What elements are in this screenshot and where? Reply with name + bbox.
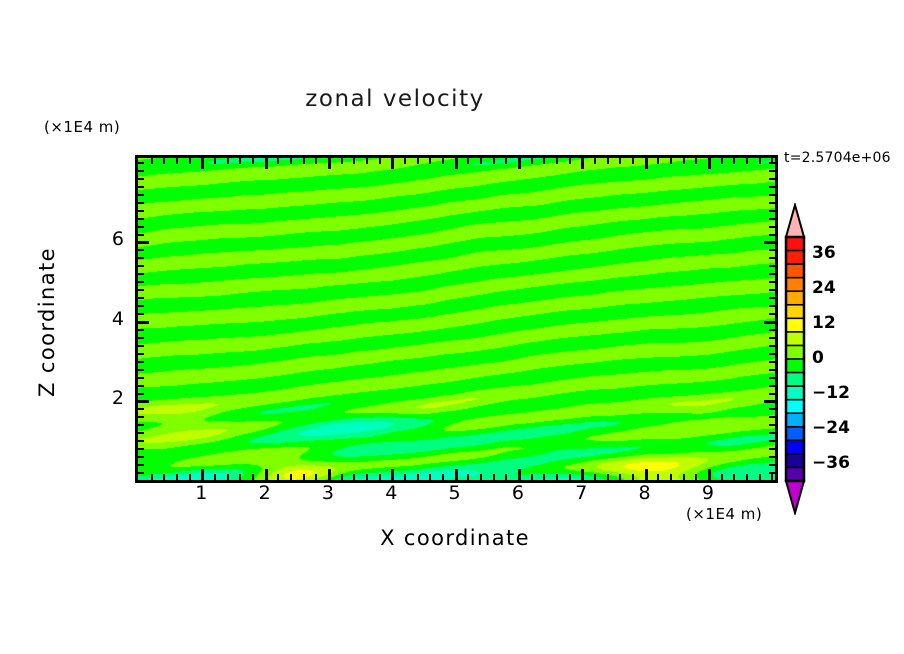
tick-mark bbox=[290, 474, 292, 480]
tick-mark bbox=[670, 474, 672, 480]
tick-mark bbox=[769, 194, 775, 196]
tick-mark bbox=[315, 474, 317, 480]
tick-mark bbox=[163, 158, 165, 164]
tick-mark bbox=[769, 416, 775, 418]
tick-mark bbox=[556, 158, 558, 164]
tick-mark bbox=[769, 424, 775, 426]
tick-mark bbox=[619, 474, 621, 480]
tick-mark bbox=[138, 226, 144, 228]
tick-mark bbox=[138, 369, 144, 371]
tick-mark bbox=[138, 400, 149, 403]
tick-mark bbox=[303, 474, 305, 480]
tick-mark bbox=[138, 361, 144, 363]
tick-mark bbox=[581, 158, 584, 169]
tick-mark bbox=[518, 469, 521, 480]
tick-mark bbox=[764, 321, 775, 324]
colorbar-tick-label: 24 bbox=[812, 278, 836, 298]
tick-mark bbox=[632, 158, 634, 164]
tick-mark bbox=[214, 158, 216, 164]
colorbar-svg bbox=[780, 203, 810, 515]
tick-mark bbox=[764, 400, 775, 403]
tick-mark bbox=[176, 474, 178, 480]
tick-mark bbox=[138, 448, 144, 450]
colorbar-band bbox=[786, 413, 804, 427]
tick-mark bbox=[138, 289, 144, 291]
contour-plot-area bbox=[135, 155, 778, 483]
tick-mark bbox=[138, 432, 144, 434]
tick-mark bbox=[429, 158, 431, 164]
tick-mark bbox=[138, 472, 144, 474]
tick-mark bbox=[543, 158, 545, 164]
tick-mark bbox=[769, 186, 775, 188]
colorbar-band bbox=[786, 373, 804, 387]
colorbar-band bbox=[786, 467, 804, 481]
tick-mark bbox=[769, 337, 775, 339]
tick-mark bbox=[252, 158, 254, 164]
tick-mark bbox=[151, 158, 153, 164]
tick-mark bbox=[493, 474, 495, 480]
tick-mark bbox=[138, 337, 144, 339]
x-axis-unit-label: (×1E4 m) bbox=[686, 505, 762, 523]
tick-mark bbox=[769, 440, 775, 442]
tick-mark bbox=[607, 474, 609, 480]
colorbar-band bbox=[786, 318, 804, 332]
contour-field-canvas bbox=[138, 158, 775, 480]
tick-mark bbox=[138, 456, 144, 458]
tick-mark bbox=[417, 474, 419, 480]
tick-mark bbox=[138, 257, 144, 259]
colorbar-over-cap bbox=[786, 205, 804, 237]
tick-mark bbox=[138, 210, 144, 212]
tick-mark bbox=[265, 158, 268, 169]
tick-mark bbox=[138, 234, 144, 236]
tick-mark bbox=[201, 469, 204, 480]
tick-mark bbox=[138, 194, 144, 196]
colorbar-tick-label: −36 bbox=[812, 453, 850, 473]
tick-mark bbox=[556, 474, 558, 480]
tick-mark bbox=[769, 210, 775, 212]
tick-mark bbox=[455, 158, 458, 169]
tick-mark bbox=[645, 469, 648, 480]
y-tick-label: 2 bbox=[92, 387, 124, 409]
tick-mark bbox=[769, 393, 775, 395]
tick-mark bbox=[759, 158, 761, 164]
tick-mark bbox=[670, 158, 672, 164]
tick-mark bbox=[138, 218, 144, 220]
x-tick-label: 5 bbox=[435, 482, 475, 504]
tick-mark bbox=[138, 424, 144, 426]
tick-mark bbox=[214, 474, 216, 480]
colorbar-tick-label: −24 bbox=[812, 418, 850, 438]
tick-mark bbox=[328, 158, 331, 169]
tick-mark bbox=[746, 158, 748, 164]
tick-mark bbox=[138, 241, 149, 244]
tick-mark bbox=[138, 202, 144, 204]
tick-mark bbox=[769, 448, 775, 450]
tick-mark bbox=[379, 474, 381, 480]
tick-mark bbox=[769, 273, 775, 275]
tick-mark bbox=[746, 474, 748, 480]
tick-mark bbox=[769, 369, 775, 371]
tick-mark bbox=[657, 158, 659, 164]
tick-mark bbox=[417, 158, 419, 164]
tick-mark bbox=[769, 202, 775, 204]
tick-mark bbox=[138, 178, 144, 180]
tick-mark bbox=[353, 158, 355, 164]
tick-mark bbox=[239, 474, 241, 480]
tick-mark bbox=[138, 305, 144, 307]
tick-mark bbox=[138, 408, 144, 410]
tick-mark bbox=[769, 170, 775, 172]
tick-mark bbox=[277, 474, 279, 480]
tick-mark bbox=[455, 469, 458, 480]
colorbar-band bbox=[786, 251, 804, 265]
tick-mark bbox=[531, 474, 533, 480]
tick-mark bbox=[493, 158, 495, 164]
tick-mark bbox=[769, 281, 775, 283]
tick-mark bbox=[138, 162, 144, 164]
x-tick-label: 9 bbox=[688, 482, 728, 504]
tick-mark bbox=[404, 158, 406, 164]
tick-mark bbox=[569, 158, 571, 164]
colorbar-band bbox=[786, 264, 804, 278]
tick-mark bbox=[769, 353, 775, 355]
tick-mark bbox=[769, 218, 775, 220]
tick-mark bbox=[163, 474, 165, 480]
tick-mark bbox=[138, 281, 144, 283]
colorbar-under-cap bbox=[786, 481, 804, 513]
tick-mark bbox=[764, 241, 775, 244]
tick-mark bbox=[227, 474, 229, 480]
tick-mark bbox=[138, 170, 144, 172]
tick-mark bbox=[769, 385, 775, 387]
tick-mark bbox=[442, 158, 444, 164]
tick-mark bbox=[138, 329, 144, 331]
tick-mark bbox=[769, 361, 775, 363]
colorbar-band bbox=[786, 278, 804, 292]
tick-mark bbox=[328, 469, 331, 480]
tick-mark bbox=[341, 474, 343, 480]
x-tick-label: 1 bbox=[181, 482, 221, 504]
tick-mark bbox=[771, 474, 773, 480]
timestamp-annotation: t=2.5704e+06 bbox=[784, 150, 891, 166]
tick-mark bbox=[151, 474, 153, 480]
tick-mark bbox=[480, 474, 482, 480]
tick-mark bbox=[277, 158, 279, 164]
colorbar-tick-label: 12 bbox=[812, 313, 836, 333]
y-tick-label: 4 bbox=[92, 308, 124, 330]
tick-mark bbox=[303, 158, 305, 164]
tick-mark bbox=[683, 474, 685, 480]
tick-mark bbox=[138, 186, 144, 188]
tick-mark bbox=[769, 329, 775, 331]
x-tick-label: 6 bbox=[498, 482, 538, 504]
tick-mark bbox=[366, 158, 368, 164]
tick-mark bbox=[138, 313, 144, 315]
tick-mark bbox=[657, 474, 659, 480]
tick-mark bbox=[138, 377, 144, 379]
tick-mark bbox=[239, 158, 241, 164]
tick-mark bbox=[695, 474, 697, 480]
tick-mark bbox=[429, 474, 431, 480]
tick-mark bbox=[769, 257, 775, 259]
colorbar-band bbox=[786, 237, 804, 251]
tick-mark bbox=[759, 474, 761, 480]
tick-mark bbox=[721, 158, 723, 164]
tick-mark bbox=[645, 158, 648, 169]
tick-mark bbox=[708, 469, 711, 480]
tick-mark bbox=[708, 158, 711, 169]
colorbar-band bbox=[786, 291, 804, 305]
tick-mark bbox=[189, 158, 191, 164]
tick-mark bbox=[341, 158, 343, 164]
colorbar-band bbox=[786, 359, 804, 373]
x-axis-title: X coordinate bbox=[235, 526, 675, 550]
colorbar-band bbox=[786, 305, 804, 319]
tick-mark bbox=[769, 432, 775, 434]
tick-mark bbox=[442, 474, 444, 480]
colorbar-band bbox=[786, 345, 804, 359]
tick-mark bbox=[252, 474, 254, 480]
tick-mark bbox=[769, 297, 775, 299]
tick-mark bbox=[769, 305, 775, 307]
tick-mark bbox=[467, 474, 469, 480]
tick-mark bbox=[769, 345, 775, 347]
tick-mark bbox=[138, 273, 144, 275]
tick-mark bbox=[632, 474, 634, 480]
colorbar-band bbox=[786, 427, 804, 441]
colorbar-band bbox=[786, 386, 804, 400]
x-tick-label: 3 bbox=[308, 482, 348, 504]
tick-mark bbox=[769, 162, 775, 164]
tick-mark bbox=[201, 158, 204, 169]
colorbar bbox=[780, 203, 810, 515]
tick-mark bbox=[290, 158, 292, 164]
tick-mark bbox=[769, 408, 775, 410]
tick-mark bbox=[733, 474, 735, 480]
tick-mark bbox=[404, 474, 406, 480]
tick-mark bbox=[505, 474, 507, 480]
tick-mark bbox=[769, 472, 775, 474]
colorbar-tick-label: 0 bbox=[812, 348, 824, 368]
tick-mark bbox=[138, 265, 144, 267]
x-tick-label: 8 bbox=[625, 482, 665, 504]
page-title: zonal velocity bbox=[0, 86, 790, 112]
tick-mark bbox=[480, 158, 482, 164]
tick-mark bbox=[391, 158, 394, 169]
tick-mark bbox=[619, 158, 621, 164]
tick-mark bbox=[695, 158, 697, 164]
y-axis-unit-label: (×1E4 m) bbox=[44, 118, 120, 136]
tick-mark bbox=[189, 474, 191, 480]
tick-mark bbox=[769, 313, 775, 315]
tick-mark bbox=[467, 158, 469, 164]
tick-mark bbox=[379, 158, 381, 164]
tick-mark bbox=[543, 474, 545, 480]
tick-mark bbox=[769, 234, 775, 236]
tick-mark bbox=[265, 469, 268, 480]
tick-mark bbox=[769, 265, 775, 267]
colorbar-tick-label: −12 bbox=[812, 383, 850, 403]
tick-mark bbox=[733, 158, 735, 164]
tick-mark bbox=[138, 297, 144, 299]
colorbar-band bbox=[786, 440, 804, 454]
tick-mark bbox=[769, 226, 775, 228]
tick-mark bbox=[138, 385, 144, 387]
colorbar-band bbox=[786, 454, 804, 468]
tick-mark bbox=[138, 353, 144, 355]
tick-mark bbox=[505, 158, 507, 164]
tick-mark bbox=[769, 464, 775, 466]
tick-mark bbox=[315, 158, 317, 164]
tick-mark bbox=[581, 469, 584, 480]
tick-mark bbox=[769, 178, 775, 180]
tick-mark bbox=[138, 393, 144, 395]
y-tick-label: 6 bbox=[92, 228, 124, 250]
tick-mark bbox=[138, 249, 144, 251]
tick-mark bbox=[769, 456, 775, 458]
x-tick-label: 2 bbox=[245, 482, 285, 504]
colorbar-band bbox=[786, 332, 804, 346]
x-tick-label: 7 bbox=[561, 482, 601, 504]
tick-mark bbox=[594, 474, 596, 480]
tick-mark bbox=[607, 158, 609, 164]
tick-mark bbox=[683, 158, 685, 164]
tick-mark bbox=[594, 158, 596, 164]
x-tick-label: 4 bbox=[371, 482, 411, 504]
tick-mark bbox=[227, 158, 229, 164]
tick-mark bbox=[138, 416, 144, 418]
tick-mark bbox=[391, 469, 394, 480]
tick-mark bbox=[138, 464, 144, 466]
tick-mark bbox=[138, 321, 149, 324]
tick-mark bbox=[721, 474, 723, 480]
tick-mark bbox=[138, 440, 144, 442]
tick-mark bbox=[138, 345, 144, 347]
tick-mark bbox=[769, 249, 775, 251]
tick-mark bbox=[176, 158, 178, 164]
tick-mark bbox=[769, 377, 775, 379]
colorbar-tick-label: 36 bbox=[812, 243, 836, 263]
tick-mark bbox=[769, 289, 775, 291]
tick-mark bbox=[353, 474, 355, 480]
tick-mark bbox=[531, 158, 533, 164]
tick-mark bbox=[518, 158, 521, 169]
colorbar-band bbox=[786, 400, 804, 414]
tick-mark bbox=[366, 474, 368, 480]
tick-mark bbox=[569, 474, 571, 480]
y-axis-title: Z coordinate bbox=[35, 192, 59, 452]
